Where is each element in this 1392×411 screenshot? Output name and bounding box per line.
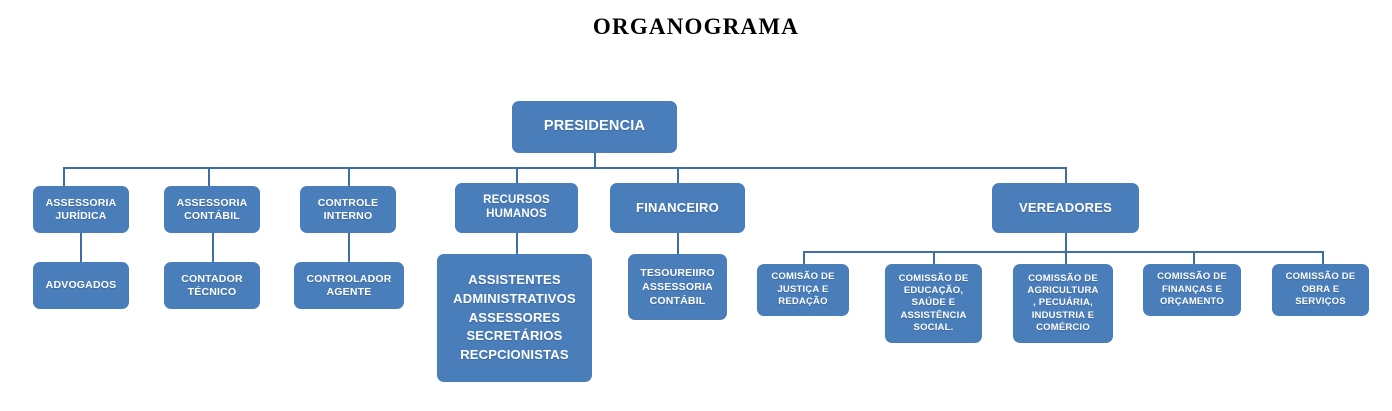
node-comissao-justica-line3: REDAÇÃO <box>760 296 846 308</box>
node-assistentes-line5: RECPCIONISTAS <box>440 346 589 365</box>
node-comissao-obra[interactable]: COMISSÃO DE OBRA E SERVIÇOS <box>1272 264 1369 316</box>
connector-drop-comissao-educacao <box>933 251 935 264</box>
node-assistentes-line4: SECRETÁRIOS <box>440 327 589 346</box>
connector-drop-assessoria-contabil <box>208 167 210 186</box>
page-title: ORGANOGRAMA <box>0 14 1392 40</box>
connector-drop-comissao-obra <box>1322 251 1324 264</box>
node-controlador-agente-line2: AGENTE <box>297 286 401 298</box>
node-assistentes-line3: ASSESSORES <box>440 309 589 328</box>
node-assessoria-contabil-line2: CONTÁBIL <box>167 210 257 222</box>
organogram-canvas: ORGANOGRAMA PRESIDENCIA ASSESSORIA JURÍD… <box>0 0 1392 411</box>
node-comissao-obra-line2: OBRA E <box>1275 284 1366 296</box>
node-assessoria-juridica-line1: ASSESSORIA <box>36 197 126 209</box>
node-recursos-humanos-line2: HUMANOS <box>458 208 575 222</box>
node-comissao-educacao-line5: SOCIAL. <box>888 322 979 334</box>
node-comissao-educacao[interactable]: COMISSÃO DE EDUCAÇÃO, SAÚDE E ASSISTÊNCI… <box>885 264 982 343</box>
connector-vereadores-stem <box>1065 232 1067 252</box>
connector-controle-interno-controlador <box>348 232 350 262</box>
node-vereadores[interactable]: VEREADORES <box>992 183 1139 233</box>
connector-drop-comissao-agricultura <box>1065 251 1067 264</box>
connector-assessoria-juridica-advogados <box>80 232 82 262</box>
connector-level2-bus <box>63 167 1066 169</box>
node-comissao-justica-line2: JUSTIÇA E <box>760 284 846 296</box>
node-comissao-obra-line1: COMISSÃO DE <box>1275 271 1366 283</box>
node-tesoureiro-line2: ASSESSORIA <box>631 280 724 294</box>
node-tesoureiro-line3: CONTÁBIL <box>631 294 724 308</box>
node-vereadores-line1: VEREADORES <box>995 200 1136 215</box>
node-tesoureiro[interactable]: TESOUREIIRO ASSESSORIA CONTÁBIL <box>628 254 727 320</box>
node-comissao-financas[interactable]: COMISSÃO DE FINANÇAS E ORÇAMENTO <box>1143 264 1241 316</box>
connector-financeiro-tesoureiro <box>677 232 679 254</box>
connector-assessoria-contabil-contador <box>212 232 214 262</box>
node-comissao-financas-line3: ORÇAMENTO <box>1146 296 1238 308</box>
connector-recursos-humanos-assistentes <box>516 232 518 254</box>
node-presidencia[interactable]: PRESIDENCIA <box>512 101 677 153</box>
node-advogados[interactable]: ADVOGADOS <box>33 262 129 309</box>
node-comissao-obra-line3: SERVIÇOS <box>1275 296 1366 308</box>
node-controlador-agente[interactable]: CONTROLADOR AGENTE <box>294 262 404 309</box>
node-financeiro[interactable]: FINANCEIRO <box>610 183 745 233</box>
node-contador-tecnico-line2: TÉCNICO <box>167 286 257 298</box>
node-comissao-financas-line1: COMISSÃO DE <box>1146 271 1238 283</box>
node-comissao-educacao-line3: SAÚDE E <box>888 297 979 309</box>
node-presidencia-line1: PRESIDENCIA <box>515 118 674 135</box>
node-assessoria-contabil-line1: ASSESSORIA <box>167 197 257 209</box>
node-comissao-educacao-line1: COMISSÃO DE <box>888 273 979 285</box>
node-comissao-justica-line1: COMISÃO DE <box>760 271 846 283</box>
node-contador-tecnico[interactable]: CONTADOR TÉCNICO <box>164 262 260 309</box>
node-comissao-agricultura-line1: COMISSÃO DE <box>1016 273 1110 285</box>
node-comissao-agricultura-line4: INDUSTRIA E <box>1016 310 1110 322</box>
node-tesoureiro-line1: TESOUREIIRO <box>631 266 724 280</box>
node-assistentes-line1: ASSISTENTES <box>440 271 589 290</box>
node-comissao-educacao-line2: EDUCAÇÃO, <box>888 285 979 297</box>
node-recursos-humanos[interactable]: RECURSOS HUMANOS <box>455 183 578 233</box>
node-comissao-agricultura[interactable]: COMISSÃO DE AGRICULTURA , PECUÁRIA, INDU… <box>1013 264 1113 343</box>
node-assessoria-juridica[interactable]: ASSESSORIA JURÍDICA <box>33 186 129 233</box>
node-controle-interno-line1: CONTROLE <box>303 197 393 209</box>
connector-commissions-bus <box>803 251 1323 253</box>
node-comissao-agricultura-line5: COMÉRCIO <box>1016 322 1110 334</box>
node-controlador-agente-line1: CONTROLADOR <box>297 273 401 285</box>
node-assessoria-juridica-line2: JURÍDICA <box>36 210 126 222</box>
connector-drop-comissao-financas <box>1193 251 1195 264</box>
node-contador-tecnico-line1: CONTADOR <box>167 273 257 285</box>
node-recursos-humanos-line1: RECURSOS <box>458 194 575 208</box>
node-controle-interno-line2: INTERNO <box>303 210 393 222</box>
node-controle-interno[interactable]: CONTROLE INTERNO <box>300 186 396 233</box>
node-comissao-agricultura-line2: AGRICULTURA <box>1016 285 1110 297</box>
node-assessoria-contabil[interactable]: ASSESSORIA CONTÁBIL <box>164 186 260 233</box>
node-comissao-educacao-line4: ASSISTÊNCIA <box>888 310 979 322</box>
node-advogados-line1: ADVOGADOS <box>36 279 126 291</box>
connector-drop-controle-interno <box>348 167 350 186</box>
node-comissao-agricultura-line3: , PECUÁRIA, <box>1016 297 1110 309</box>
node-assistentes-line2: ADMINISTRATIVOS <box>440 290 589 309</box>
connector-drop-comissao-justica <box>803 251 805 264</box>
node-financeiro-line1: FINANCEIRO <box>613 200 742 215</box>
node-comissao-justica[interactable]: COMISÃO DE JUSTIÇA E REDAÇÃO <box>757 264 849 316</box>
connector-drop-assessoria-juridica <box>63 167 65 186</box>
node-assistentes-administrativos[interactable]: ASSISTENTES ADMINISTRATIVOS ASSESSORES S… <box>437 254 592 382</box>
connector-presidencia-stem <box>594 152 596 168</box>
node-comissao-financas-line2: FINANÇAS E <box>1146 284 1238 296</box>
